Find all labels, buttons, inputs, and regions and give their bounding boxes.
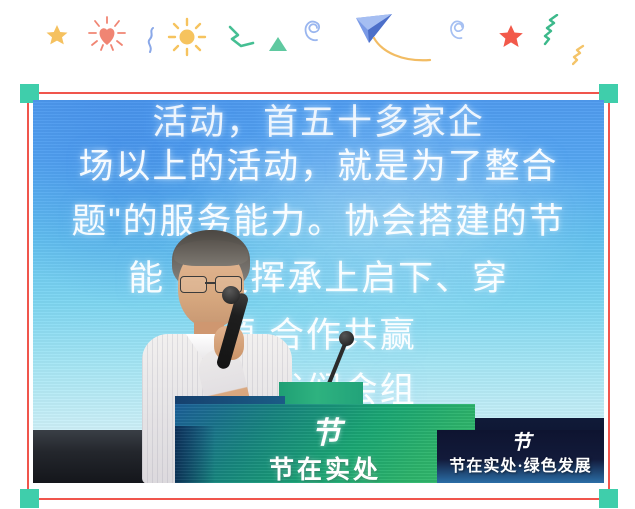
podium-slogan-line-1: 节在实处 (175, 450, 475, 483)
frame-bottom-line (27, 498, 610, 500)
led-text-line-5: 源 合作共赢 (33, 307, 604, 358)
yellow-star-doodle (45, 23, 69, 47)
blue-squiggle-doodle (145, 27, 159, 53)
red-star-doodle (498, 24, 524, 50)
podium: 节 节在实处 绿色发展 (175, 382, 475, 483)
green-zigzag-doodle (228, 25, 258, 49)
glasses-left-lens (180, 276, 207, 293)
blue-spiral-small-doodle (448, 20, 468, 42)
blue-spiral-doodle (302, 20, 324, 44)
speaker-hair-front (174, 240, 248, 266)
glasses-bridge (205, 282, 216, 284)
podium-logo-mark: 节 (175, 408, 475, 452)
plane-trail-doodle (372, 36, 434, 66)
led-text-line-3: 题"的服务能力。协会搭建的节 (33, 193, 604, 244)
frame-left-line (27, 92, 29, 500)
led-text-line-2: 场以上的活动，就是为了整合 (33, 138, 604, 189)
podium-top-surface (279, 382, 363, 404)
event-photo: 活动，首五十多家企 场以上的活动，就是为了整合 题"的服务能力。协会搭建的节 能… (33, 100, 604, 483)
green-triangle-doodle (268, 36, 288, 52)
green-wiggle-doodle (543, 14, 571, 46)
frame-corner-bottom-right (599, 489, 618, 508)
podium-microphone-head (339, 331, 354, 346)
led-text-line-4: 能 间发挥承上启下、穿 (33, 250, 604, 301)
decorative-doodle-strip (0, 0, 635, 88)
heart-burst-doodle (85, 14, 129, 58)
frame-right-line (608, 85, 610, 493)
frame-top-line (27, 92, 610, 94)
banner-slogan: 节在实处·绿色发展 (437, 452, 604, 476)
bottom-right-banner: 节 节在实处·绿色发展 (437, 430, 604, 483)
frame-corner-bottom-left (20, 489, 39, 508)
sun-doodle (167, 17, 207, 57)
yellow-wiggle-doodle (572, 44, 594, 66)
